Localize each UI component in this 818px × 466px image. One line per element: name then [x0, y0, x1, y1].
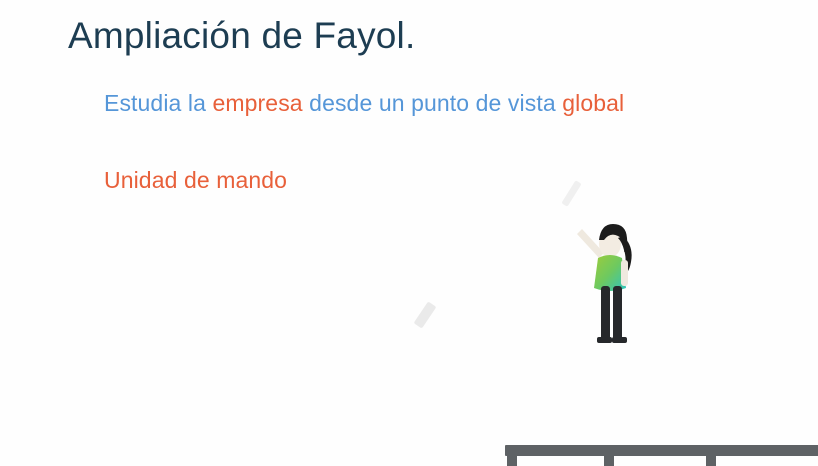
emphasis-line: Unidad de mando	[104, 165, 287, 195]
org-chart-connectors	[409, 445, 818, 466]
subtitle-segment-3: desde un punto de vista	[303, 90, 563, 116]
subtitle-segment-2: empresa	[213, 90, 303, 116]
slide-canvas: Ampliación de Fayol. Estudia la empresa …	[0, 0, 818, 466]
subtitle-line: Estudia la empresa desde un punto de vis…	[104, 88, 624, 118]
org-node-leader	[577, 224, 632, 343]
subtitle-segment-1: Estudia la	[104, 90, 213, 116]
page-title: Ampliación de Fayol.	[68, 14, 415, 58]
subtitle-segment-4: global	[562, 90, 624, 116]
org-chart-illustration	[395, 165, 818, 466]
